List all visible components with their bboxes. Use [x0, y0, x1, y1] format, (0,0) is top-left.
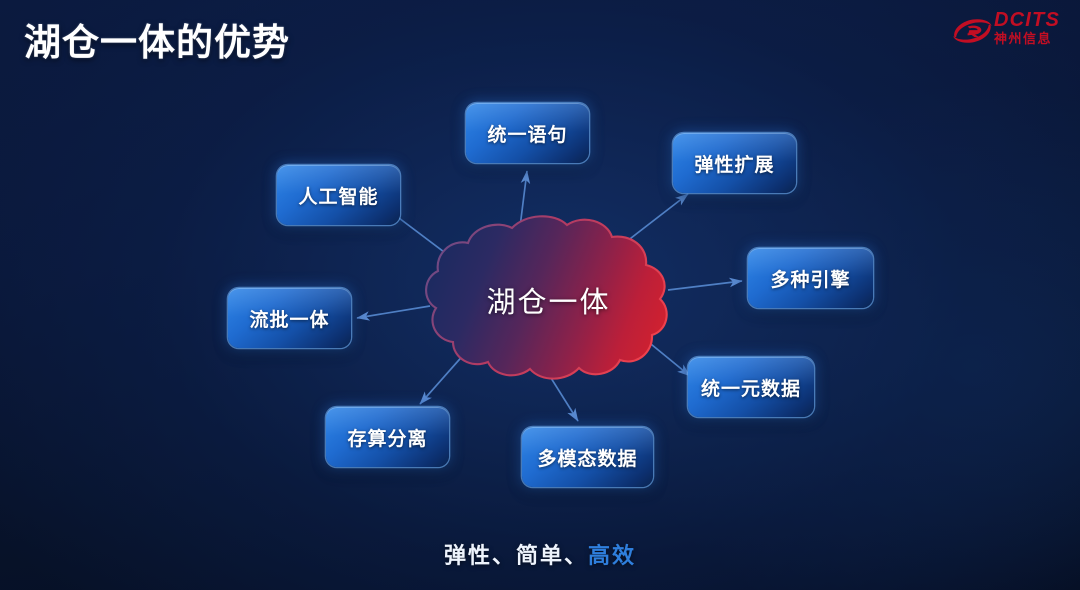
- footer-tagline-part-a: 弹性、简单、: [444, 543, 588, 568]
- node-label: 人工智能: [298, 182, 378, 209]
- node-label: 统一语句: [487, 120, 567, 147]
- node-stream-batch[interactable]: 流批一体: [228, 288, 351, 348]
- node-ai[interactable]: 人工智能: [277, 165, 400, 225]
- footer-tagline: 弹性、简单、高效: [0, 538, 1080, 570]
- node-multi-engine[interactable]: 多种引擎: [748, 248, 873, 308]
- center-cloud-node[interactable]: 湖仓一体: [415, 212, 680, 387]
- center-cloud-label: 湖仓一体: [415, 212, 680, 387]
- node-label: 多种引擎: [770, 265, 850, 292]
- node-elastic-scaling[interactable]: 弹性扩展: [673, 133, 796, 193]
- node-multimodal-data[interactable]: 多模态数据: [522, 427, 653, 487]
- slide-canvas: 湖仓一体的优势 DCITS 神州信息: [0, 0, 1080, 590]
- node-label: 流批一体: [249, 305, 329, 332]
- node-label: 多模态数据: [537, 444, 637, 471]
- node-label: 弹性扩展: [694, 150, 774, 177]
- node-storage-compute[interactable]: 存算分离: [326, 407, 449, 467]
- footer-tagline-part-b: 高效: [588, 543, 636, 568]
- node-unified-metadata[interactable]: 统一元数据: [688, 357, 814, 417]
- node-unified-syntax[interactable]: 统一语句: [466, 103, 589, 163]
- node-label: 统一元数据: [701, 374, 801, 401]
- node-label: 存算分离: [347, 424, 427, 451]
